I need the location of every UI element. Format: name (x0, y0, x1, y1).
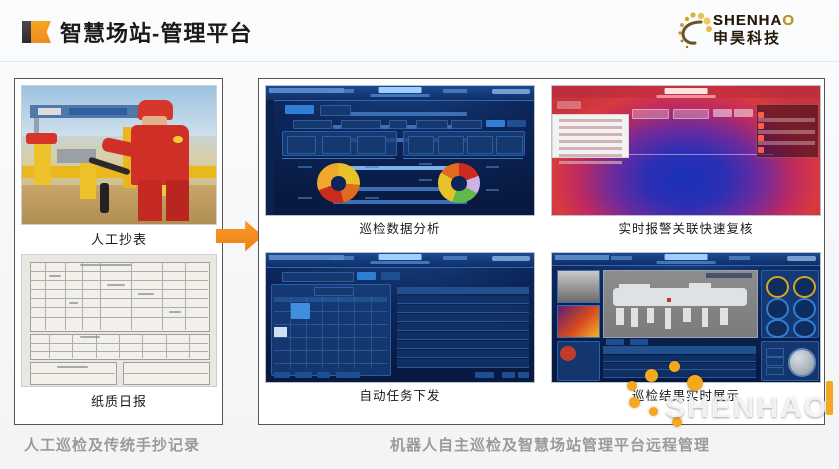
header-title-group: 智慧场站-管理平台 (22, 16, 252, 48)
flag-icon (22, 21, 51, 43)
inspection-result-live-image (551, 252, 821, 383)
gauge-battery (793, 298, 816, 320)
paper-report-card: 纸质日报 (21, 254, 217, 410)
manual-meter-label: 人工抄表 (21, 225, 217, 248)
shenhao-spiral-dots-icon (671, 10, 715, 54)
camera-feed-thermal (557, 305, 599, 338)
right-arrow-icon (216, 220, 263, 252)
caption-inspection-result-live: 巡检结果实时展示 (551, 385, 821, 404)
watermark-bar (826, 381, 833, 415)
inspection-data-analysis-image (265, 85, 535, 216)
paper-daily-report-scan (21, 254, 217, 387)
thermal-main-view (603, 270, 758, 338)
company-logo: SHENHAO 申昊科技 (671, 8, 821, 56)
worker-reading-meter-photo (21, 85, 217, 225)
caption-auto-task-dispatch: 自动任务下发 (265, 385, 535, 404)
calendar-tooltip (274, 327, 287, 337)
camera-feed-visible (557, 270, 599, 303)
screenshot-auto-task-dispatch[interactable]: 自动任务下发 (265, 252, 535, 383)
logo-wordmark: SHENHAO 申昊科技 (713, 13, 795, 47)
left-section-footer: 人工巡检及传统手抄记录 (24, 434, 200, 455)
realtime-alarm-review-image (551, 85, 821, 216)
caption-realtime-alarm-review: 实时报警关联快速复核 (551, 218, 821, 237)
right-section-footer: 机器人自主巡检及智慧场站管理平台远程管理 (390, 434, 710, 455)
screenshot-realtime-alarm-review[interactable]: 实时报警关联快速复核 (551, 85, 821, 216)
screenshot-inspection-data-analysis[interactable]: 巡检数据分析 (265, 85, 535, 216)
calendar-selected-cell (291, 303, 310, 318)
manual-meter-card: 人工抄表 (21, 85, 217, 248)
gauge-signal (793, 319, 816, 338)
joystick-control (788, 348, 816, 377)
slide-header: 智慧场站-管理平台 SHENHAO 申昊科技 (0, 0, 839, 62)
logo-chinese: 申昊科技 (713, 30, 795, 47)
header-divider (0, 61, 839, 62)
slide-root: 智慧场站-管理平台 SHENHAO 申昊科技 (0, 0, 839, 469)
logo-english: SHENHAO (713, 13, 795, 29)
alarm-dropdown-list (552, 114, 629, 157)
screenshot-inspection-result-live[interactable]: 巡检结果实时展示 (551, 252, 821, 383)
paper-report-label: 纸质日报 (21, 387, 217, 410)
auto-task-dispatch-image (265, 252, 535, 383)
smart-platform-panel: 巡检数据分析 (258, 78, 825, 425)
manual-workflow-panel: 人工抄表 (14, 78, 223, 425)
page-title: 智慧场站-管理平台 (60, 16, 252, 48)
caption-inspection-data-analysis: 巡检数据分析 (265, 218, 535, 237)
